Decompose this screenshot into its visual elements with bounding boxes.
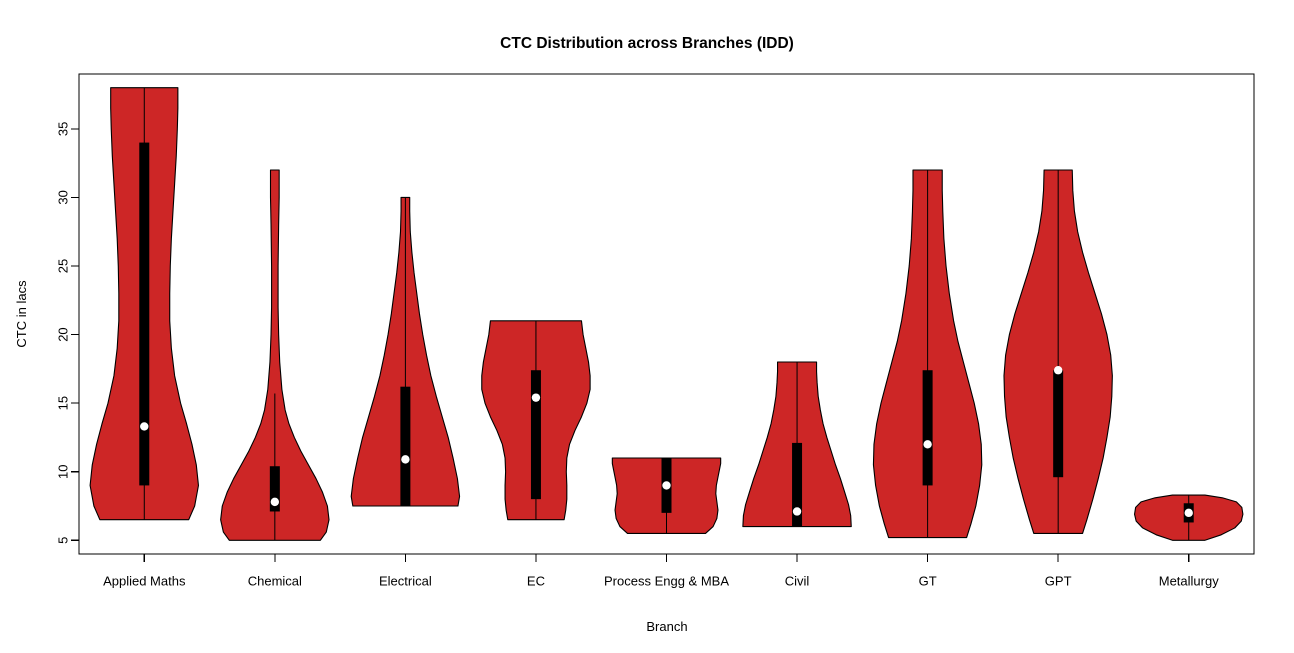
median-point bbox=[271, 498, 279, 506]
x-tick-label: GPT bbox=[1045, 574, 1072, 589]
y-tick-label: 10 bbox=[56, 464, 71, 478]
y-tick-label: 20 bbox=[56, 327, 71, 341]
median-point bbox=[532, 393, 540, 401]
x-tick-label: Civil bbox=[785, 574, 810, 589]
x-tick-label: Metallurgy bbox=[1159, 574, 1219, 589]
median-point bbox=[1185, 509, 1193, 517]
y-axis-title: CTC in lacs bbox=[14, 280, 29, 348]
x-tick-label: Applied Maths bbox=[103, 574, 186, 589]
violin-plot-figure: CTC Distribution across Branches (IDD) C… bbox=[0, 0, 1294, 653]
iqr-box bbox=[1053, 370, 1063, 477]
chart-canvas: CTC Distribution across Branches (IDD) C… bbox=[0, 0, 1294, 653]
iqr-box bbox=[923, 370, 933, 485]
x-tick-label: Chemical bbox=[248, 574, 302, 589]
y-tick-label: 5 bbox=[56, 537, 71, 544]
violin-process-engg-mba[interactable] bbox=[612, 458, 720, 533]
x-tick-label: EC bbox=[527, 574, 545, 589]
y-tick-label: 30 bbox=[56, 190, 71, 204]
iqr-box bbox=[531, 370, 541, 499]
x-axis-title: Branch bbox=[646, 619, 687, 634]
iqr-box bbox=[400, 387, 410, 506]
median-point bbox=[140, 422, 148, 430]
x-tick-label: Process Engg & MBA bbox=[604, 574, 729, 589]
y-tick-label: 25 bbox=[56, 259, 71, 273]
median-point bbox=[793, 507, 801, 515]
median-point bbox=[401, 455, 409, 463]
y-tick-label: 15 bbox=[56, 396, 71, 410]
x-tick-label: Electrical bbox=[379, 574, 432, 589]
x-tick-label: GT bbox=[919, 574, 937, 589]
chart-title: CTC Distribution across Branches (IDD) bbox=[500, 35, 794, 52]
median-point bbox=[662, 481, 670, 489]
iqr-box bbox=[139, 143, 149, 486]
median-point bbox=[923, 440, 931, 448]
median-point bbox=[1054, 366, 1062, 374]
y-tick-label: 35 bbox=[56, 122, 71, 136]
